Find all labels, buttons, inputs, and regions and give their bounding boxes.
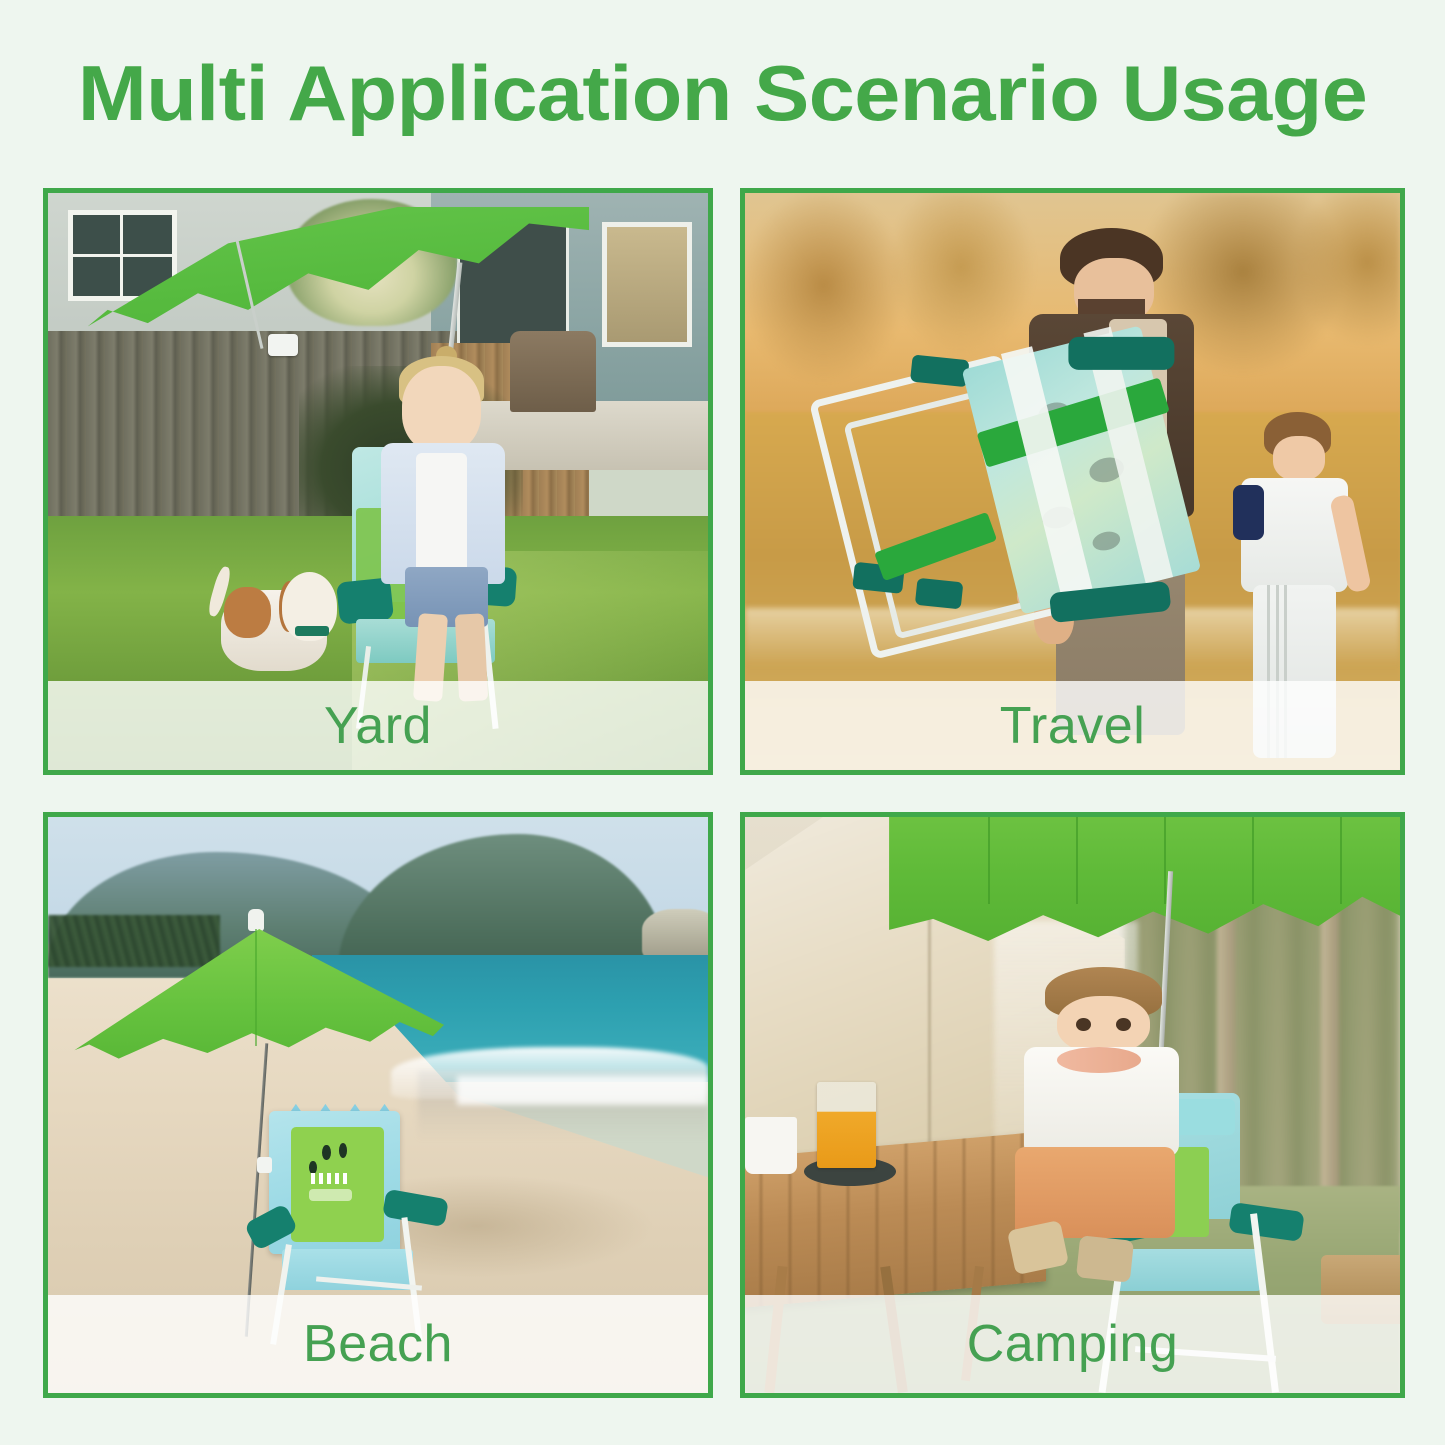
scenario-panel-travel[interactable]: Travel bbox=[740, 188, 1405, 775]
caption-band-travel: Travel bbox=[745, 681, 1400, 770]
scenario-panel-beach[interactable]: Beach bbox=[43, 812, 713, 1398]
scenario-panel-camping[interactable]: Camping bbox=[740, 812, 1405, 1398]
scenario-panel-yard[interactable]: Yard bbox=[43, 188, 713, 775]
umbrella-graphic bbox=[74, 898, 444, 1094]
caption-camping: Camping bbox=[967, 1318, 1179, 1370]
page-title: Multi Application Scenario Usage bbox=[0, 48, 1445, 139]
child-graphic bbox=[378, 366, 550, 701]
juice-glass-graphic bbox=[817, 1082, 876, 1168]
toddler-graphic bbox=[1007, 967, 1217, 1290]
caption-yard: Yard bbox=[324, 700, 432, 752]
scenario-grid: Yard bbox=[43, 188, 1405, 1398]
caption-beach: Beach bbox=[303, 1318, 453, 1370]
caption-band-yard: Yard bbox=[48, 681, 708, 770]
umbrella-graphic bbox=[889, 817, 1400, 967]
caption-band-camping: Camping bbox=[745, 1295, 1400, 1393]
crocodile-print bbox=[291, 1127, 384, 1242]
caption-travel: Travel bbox=[1000, 700, 1146, 752]
coffee-cup-graphic bbox=[745, 1117, 797, 1175]
caption-band-beach: Beach bbox=[48, 1295, 708, 1393]
